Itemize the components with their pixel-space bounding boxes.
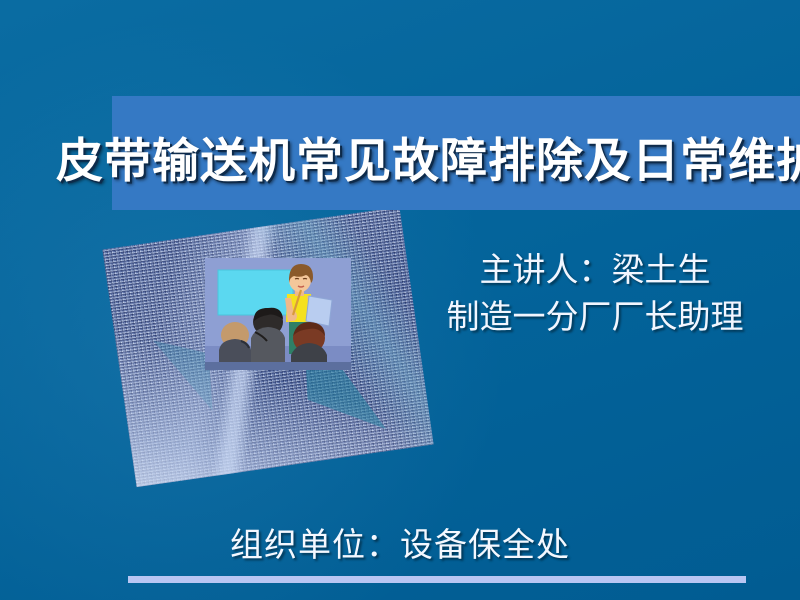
bottom-divider-rule [128,576,746,583]
clipart-svg [205,258,351,370]
organizer-line: 组织单位：设备保全处 [0,518,800,566]
slide-title: 皮带输送机常见故障排除及日常维护 [56,110,800,202]
presenter-info: 主讲人：梁土生 制造一分厂厂长助理 [400,248,790,342]
presenter-name-line: 主讲人：梁土生 [400,248,790,295]
presentation-meeting-clipart [205,258,351,370]
presenter-title-line: 制造一分厂厂长助理 [400,295,790,342]
presentation-slide: 皮带输送机常见故障排除及日常维护 主讲人：梁土生 制造一分厂厂长助理 组织单位：… [0,0,800,600]
